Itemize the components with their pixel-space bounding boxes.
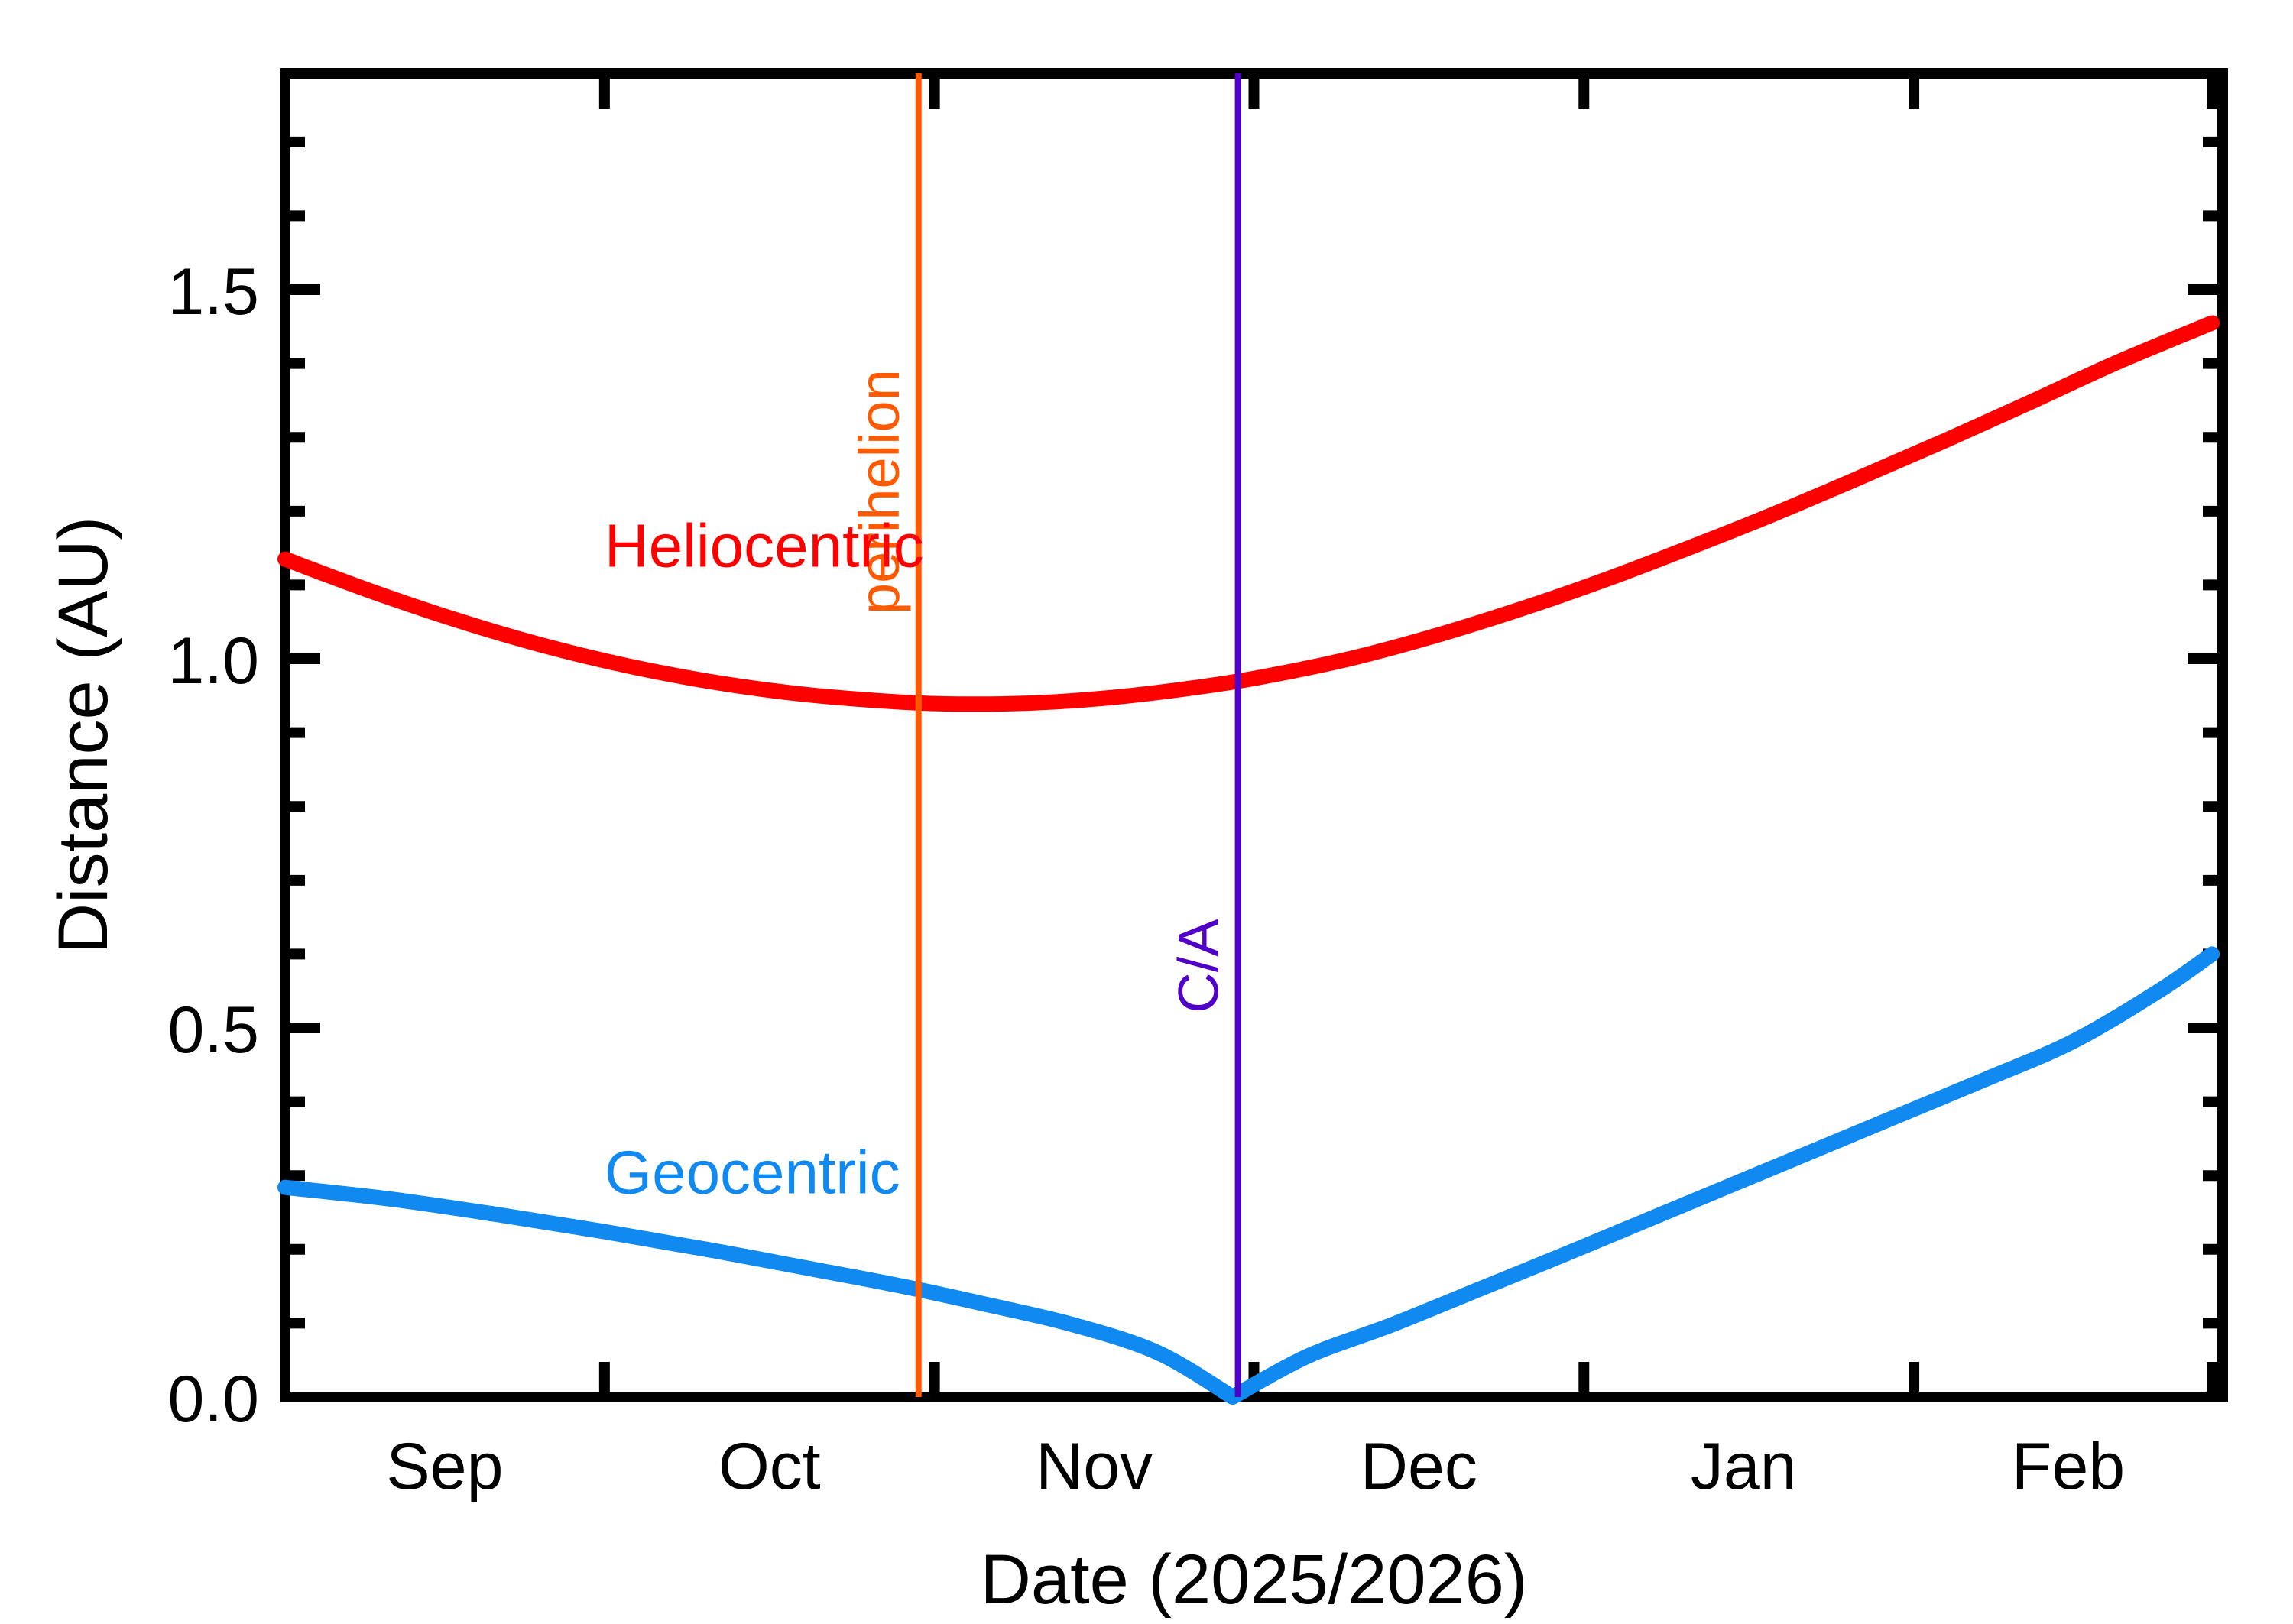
x-tick-label: Sep <box>386 1430 503 1503</box>
x-tick-label: Oct <box>718 1430 821 1503</box>
chart-root: perihelionC/A 0.00.51.01.5SepOctNovDecJa… <box>0 0 2293 1624</box>
x-tick-label: Nov <box>1036 1430 1153 1503</box>
y-axis-label: Distance (AU) <box>44 517 122 955</box>
x-tick-label: Dec <box>1361 1430 1477 1503</box>
series-label-heliocentric: Heliocentric <box>605 511 924 579</box>
x-axis-label: Date (2025/2026) <box>980 1541 1527 1619</box>
y-tick-label: 0.0 <box>167 1363 259 1436</box>
chart-background <box>0 0 2293 1624</box>
x-tick-label: Feb <box>2012 1430 2125 1503</box>
distance-vs-date-chart: perihelionC/A 0.00.51.01.5SepOctNovDecJa… <box>0 0 2293 1624</box>
vertical-marker-label: C/A <box>1167 919 1231 1013</box>
series-label-geocentric: Geocentric <box>605 1138 900 1206</box>
y-tick-label: 1.0 <box>167 624 259 698</box>
y-tick-label: 1.5 <box>167 255 259 329</box>
x-tick-label: Jan <box>1691 1430 1797 1503</box>
y-tick-label: 0.5 <box>167 994 259 1067</box>
